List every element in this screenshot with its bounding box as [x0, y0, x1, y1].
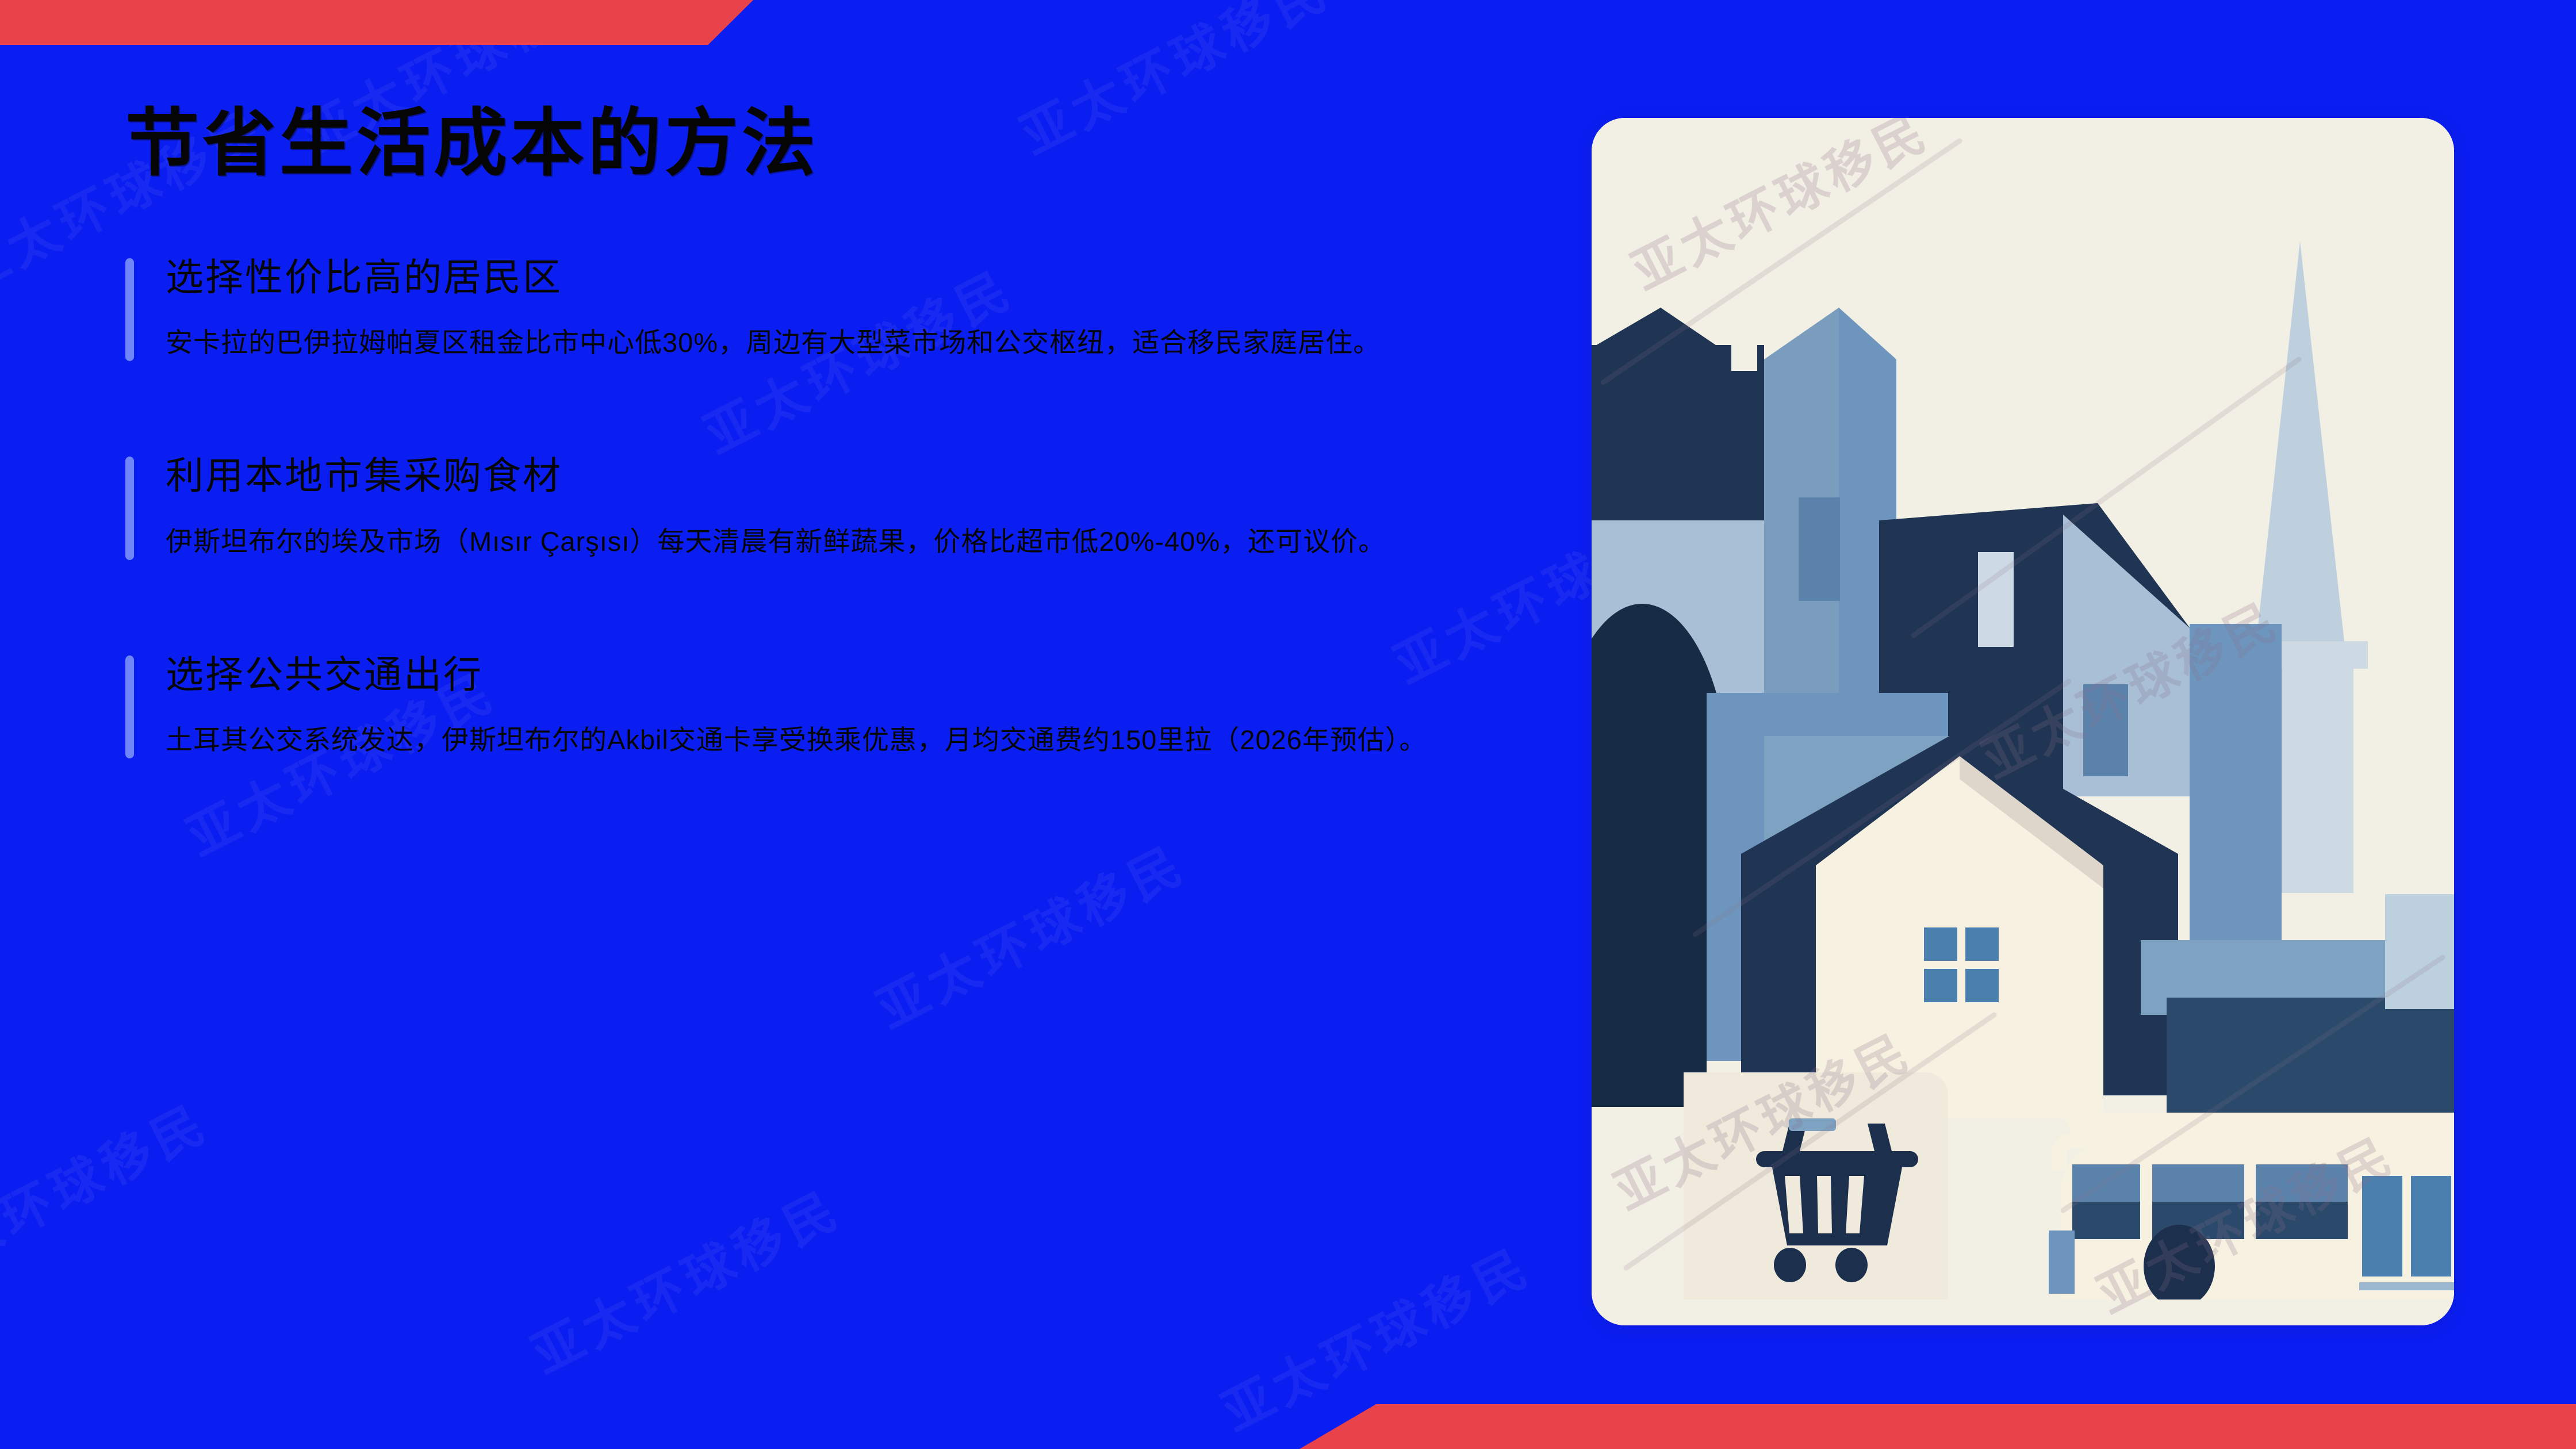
tip-title: 选择性价比高的居民区 [166, 254, 1517, 301]
four-pane-window [1919, 923, 2003, 1006]
tip-title: 利用本地市集采购食材 [166, 452, 1517, 500]
corner-ribbon-top-left [0, 0, 753, 45]
tip-body: 伊斯坦布尔的埃及市场（Mısır Çarşısı）每天清晨有新鲜蔬果，价格比超市… [166, 519, 1500, 565]
watermark-text: 亚太环球移民 [517, 1169, 852, 1387]
tip-title: 选择公共交通出行 [166, 651, 1517, 699]
tip-item: 选择性价比高的居民区 安卡拉的巴伊拉姆帕夏区租金比市中心低30%，周边有大型菜市… [125, 254, 1517, 366]
accent-bar [125, 258, 134, 361]
watermark-text: 亚太环球移民 [862, 824, 1197, 1042]
content-column: 节省生活成本的方法 选择性价比高的居民区 安卡拉的巴伊拉姆帕夏区租金比市中心低3… [125, 103, 1517, 763]
watermark-text: 亚太环球移民 [0, 1083, 220, 1301]
tip-body: 安卡拉的巴伊拉姆帕夏区租金比市中心低30%，周边有大型菜市场和公交枢纽，适合移民… [166, 320, 1500, 366]
tip-body: 土耳其公交系统发达，伊斯坦布尔的Akbil交通卡享受换乘优惠，月均交通费约150… [166, 718, 1500, 763]
townscape-illustration: 亚太环球移民 亚太环球移民 亚太环球移民 亚太环球移民 [1592, 118, 2454, 1325]
page-title: 节省生活成本的方法 [125, 103, 1517, 185]
tip-item: 选择公共交通出行 土耳其公交系统发达，伊斯坦布尔的Akbil交通卡享受换乘优惠，… [125, 651, 1517, 763]
corner-ribbon-bottom-right [1299, 1404, 2576, 1449]
illustration-card: 亚太环球移民 亚太环球移民 亚太环球移民 亚太环球移民 [1592, 118, 2454, 1325]
tip-item: 利用本地市集采购食材 伊斯坦布尔的埃及市场（Mısır Çarşısı）每天清晨… [125, 452, 1517, 564]
slide-canvas: 亚太环球移民 亚太环球移民 亚太环球移民 亚太环球移民 亚太环球移民 亚太环球移… [0, 0, 2576, 1449]
accent-bar [125, 655, 134, 758]
accent-bar [125, 457, 134, 559]
